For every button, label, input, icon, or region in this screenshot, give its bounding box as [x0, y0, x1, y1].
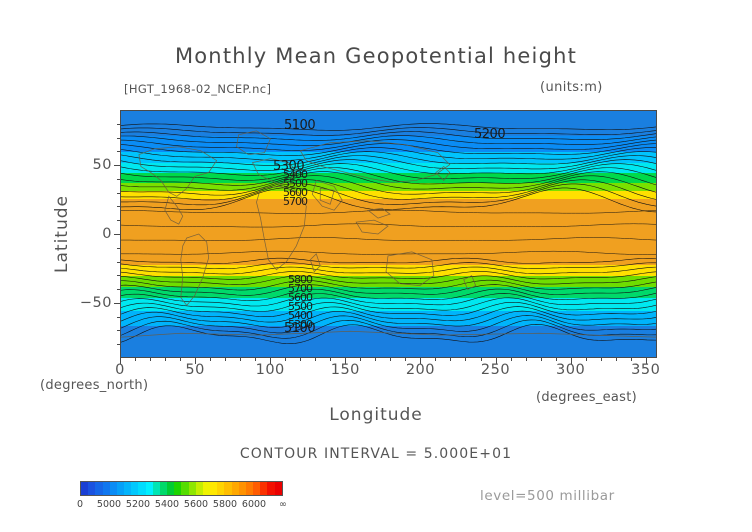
y-minor-tick	[117, 289, 120, 290]
x-axis-title: Longitude	[0, 405, 752, 425]
colorbar-swatch	[81, 482, 88, 495]
colorbar-swatch	[196, 482, 203, 495]
x-minor-tick	[360, 358, 361, 361]
x-minor-tick	[225, 358, 226, 361]
colorbar-tick-label: 5400	[155, 499, 179, 510]
x-tick-label: 300	[556, 362, 585, 378]
colorbar-swatch	[146, 482, 153, 495]
colorbar-swatch	[203, 482, 210, 495]
x-minor-tick	[150, 358, 151, 361]
x-tick-label: 0	[115, 362, 125, 378]
x-minor-tick	[405, 358, 406, 361]
x-minor-tick	[135, 358, 136, 361]
x-minor-tick	[526, 358, 527, 361]
colorbar-swatch	[153, 482, 160, 495]
colorbar-tick-label: 5800	[213, 499, 237, 510]
y-minor-tick	[117, 262, 120, 263]
x-minor-tick	[511, 358, 512, 361]
y-tick	[114, 234, 120, 235]
x-tick-label: 350	[631, 362, 660, 378]
colorbar-swatch	[253, 482, 260, 495]
plot-canvas: Monthly Mean Geopotential height [HGT_19…	[0, 0, 752, 532]
y-minor-tick	[117, 330, 120, 331]
y-minor-tick	[117, 179, 120, 180]
contour-interval-note: CONTOUR INTERVAL = 5.000E+01	[0, 446, 752, 462]
colorbar-swatch	[267, 482, 274, 495]
colorbar-swatch	[103, 482, 110, 495]
x-minor-tick	[601, 358, 602, 361]
x-minor-tick	[465, 358, 466, 361]
y-tick-label: −50	[80, 295, 112, 311]
x-minor-tick	[315, 358, 316, 361]
colorbar-swatch	[260, 482, 267, 495]
y-minor-tick	[117, 317, 120, 318]
y-minor-tick	[117, 124, 120, 125]
colorbar-swatch	[138, 482, 145, 495]
x-minor-tick	[450, 358, 451, 361]
units-label: (units:m)	[540, 80, 603, 95]
colorbar	[80, 481, 283, 496]
colorbar-tick-label: 5600	[184, 499, 208, 510]
y-axis-units: (degrees_north)	[40, 378, 148, 393]
y-minor-tick	[117, 344, 120, 345]
y-minor-tick	[117, 151, 120, 152]
map-plot-area: 5100 5200 5300 5400 5500 5600 5700 5800 …	[120, 110, 657, 358]
x-tick-label: 50	[185, 362, 204, 378]
y-tick	[114, 165, 120, 166]
contour-label: 5100	[284, 321, 315, 336]
colorbar-swatch	[117, 482, 124, 495]
y-tick	[114, 303, 120, 304]
colorbar-swatch	[181, 482, 188, 495]
page-title: Monthly Mean Geopotential height	[0, 44, 752, 68]
y-minor-tick	[117, 248, 120, 249]
colorbar-swatch	[246, 482, 253, 495]
x-axis-units: (degrees_east)	[536, 390, 637, 405]
contour-label: 5100	[284, 118, 315, 133]
x-tick-label: 250	[481, 362, 510, 378]
x-minor-tick	[616, 358, 617, 361]
colorbar-tick-label: 6000	[242, 499, 266, 510]
colorbar-swatch	[224, 482, 231, 495]
x-tick-label: 100	[256, 362, 285, 378]
x-minor-tick	[556, 358, 557, 361]
x-minor-tick	[586, 358, 587, 361]
colorbar-swatch	[275, 482, 282, 495]
x-minor-tick	[255, 358, 256, 361]
x-minor-tick	[390, 358, 391, 361]
colorbar-tick-label: 5000	[97, 499, 121, 510]
coastline-overlay	[121, 111, 656, 357]
x-minor-tick	[375, 358, 376, 361]
contour-label: 5700	[283, 195, 307, 208]
x-minor-tick	[435, 358, 436, 361]
y-minor-tick	[117, 193, 120, 194]
y-minor-tick	[117, 220, 120, 221]
colorbar-swatch	[95, 482, 102, 495]
y-tick-label: 50	[93, 157, 112, 173]
colorbar-swatch	[167, 482, 174, 495]
y-axis-title: Latitude	[52, 195, 72, 273]
colorbar-swatch	[239, 482, 246, 495]
colorbar-swatch	[124, 482, 131, 495]
source-file-label: [HGT_1968-02_NCEP.nc]	[124, 82, 271, 96]
y-minor-tick	[117, 206, 120, 207]
x-minor-tick	[300, 358, 301, 361]
y-minor-tick	[117, 138, 120, 139]
x-minor-tick	[330, 358, 331, 361]
colorbar-swatch	[110, 482, 117, 495]
x-minor-tick	[240, 358, 241, 361]
colorbar-swatch	[131, 482, 138, 495]
x-tick-label: 150	[331, 362, 360, 378]
x-minor-tick	[541, 358, 542, 361]
colorbar-tick-label: ∞	[279, 499, 287, 510]
x-minor-tick	[481, 358, 482, 361]
level-label: level=500 millibar	[480, 488, 615, 504]
colorbar-swatch	[174, 482, 181, 495]
colorbar-swatch	[160, 482, 167, 495]
x-tick-label: 200	[406, 362, 435, 378]
y-minor-tick	[117, 275, 120, 276]
colorbar-tick-label: 0	[77, 499, 83, 510]
colorbar-tick-label: 5200	[126, 499, 150, 510]
x-minor-tick	[180, 358, 181, 361]
x-minor-tick	[210, 358, 211, 361]
x-minor-tick	[285, 358, 286, 361]
x-minor-tick	[165, 358, 166, 361]
colorbar-swatch	[217, 482, 224, 495]
colorbar-swatch	[210, 482, 217, 495]
colorbar-swatch	[189, 482, 196, 495]
x-minor-tick	[631, 358, 632, 361]
y-tick-label: 0	[102, 226, 112, 242]
colorbar-swatch	[88, 482, 95, 495]
colorbar-swatch	[232, 482, 239, 495]
contour-label: 5200	[474, 127, 505, 142]
